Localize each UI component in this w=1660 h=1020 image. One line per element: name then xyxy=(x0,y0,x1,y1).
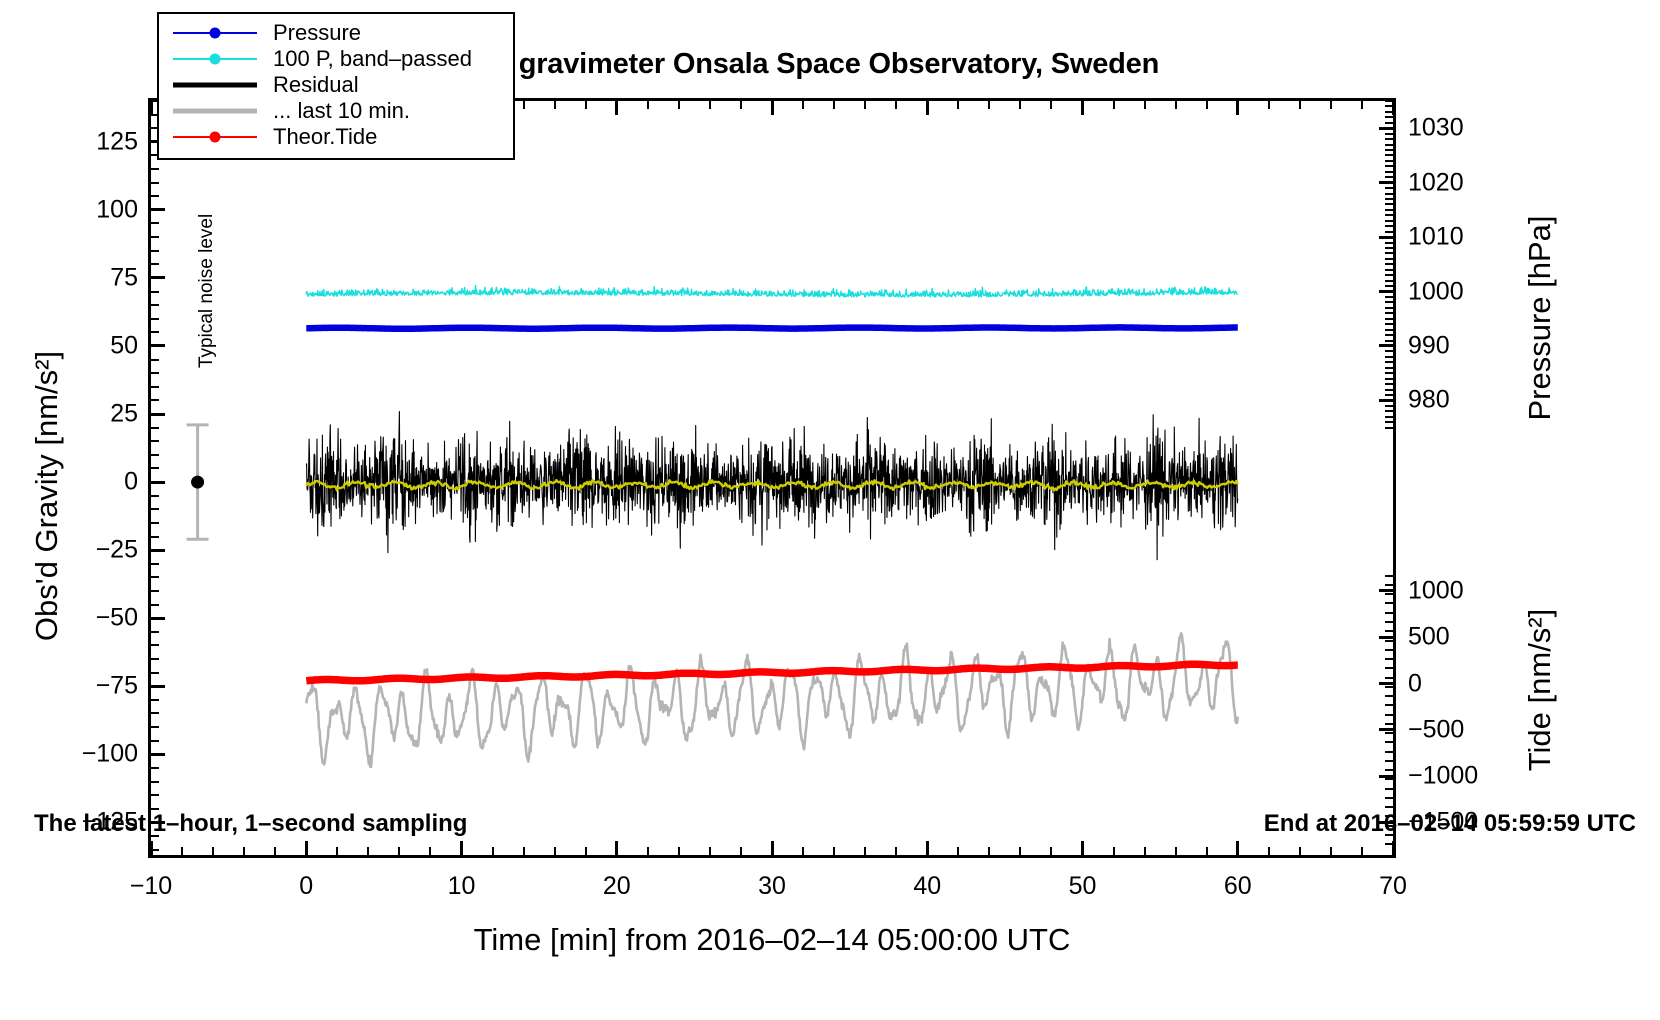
pressure-tick-minor xyxy=(1385,176,1393,178)
y-axis-tick-label: −100 xyxy=(20,740,138,769)
pressure-tick-minor xyxy=(1385,421,1393,423)
legend-swatch-icon xyxy=(167,75,263,95)
pressure-tick-minor xyxy=(1385,329,1393,331)
pressure-axis-tick-label: 980 xyxy=(1408,386,1518,415)
pressure-tick-minor xyxy=(1385,389,1393,391)
legend-item-label: Theor.Tide xyxy=(263,124,377,150)
x-tick-major xyxy=(1081,841,1084,855)
x-tick-minor xyxy=(709,847,711,855)
x-tick-minor-top xyxy=(1299,101,1301,109)
x-tick-major-top xyxy=(150,101,153,115)
legend-swatch-icon xyxy=(167,49,263,69)
x-axis-tick-label: 10 xyxy=(448,872,476,901)
x-tick-major-top xyxy=(1236,101,1239,115)
x-tick-minor-top xyxy=(864,101,866,109)
tide-tick-minor xyxy=(1385,602,1393,604)
pressure-tick-minor xyxy=(1385,198,1393,200)
x-tick-major-top xyxy=(1081,101,1084,115)
pressure-tick-minor xyxy=(1385,405,1393,407)
pressure-tick-minor xyxy=(1385,133,1393,135)
legend-item-3[interactable]: ... last 10 min. xyxy=(167,98,505,124)
pressure-tick-minor xyxy=(1385,307,1393,309)
x-tick-minor xyxy=(895,847,897,855)
x-tick-minor-top xyxy=(1206,101,1208,109)
y-axis-tick-label: 50 xyxy=(20,331,138,360)
x-tick-major xyxy=(150,841,153,855)
y-tick-minor xyxy=(151,495,159,497)
y-tick-minor xyxy=(151,250,159,252)
tide-tick-major xyxy=(1379,636,1393,639)
y-tick-minor xyxy=(151,631,159,633)
x-axis-tick-label: 20 xyxy=(603,872,631,901)
x-tick-minor xyxy=(1144,847,1146,855)
y-axis-tick-label: −75 xyxy=(20,672,138,701)
y-tick-major xyxy=(151,344,165,347)
y-axis-tick-label: 0 xyxy=(20,468,138,497)
pressure-axis-tick-label: 1030 xyxy=(1408,114,1518,143)
pressure-tick-minor xyxy=(1385,280,1393,282)
x-tick-major-top xyxy=(771,101,774,115)
tide-tick-minor xyxy=(1385,825,1393,827)
x-tick-minor xyxy=(1206,847,1208,855)
y-tick-minor xyxy=(151,658,159,660)
x-tick-minor-top xyxy=(585,101,587,109)
x-tick-major xyxy=(1236,841,1239,855)
x-tick-minor xyxy=(398,847,400,855)
y-tick-minor xyxy=(151,222,159,224)
x-tick-minor xyxy=(740,847,742,855)
tide-tick-major xyxy=(1379,821,1393,824)
tide-tick-minor xyxy=(1385,677,1393,679)
pressure-tick-minor xyxy=(1385,100,1393,102)
y-tick-minor xyxy=(151,359,159,361)
pressure-tick-minor xyxy=(1385,193,1393,195)
pressure-tick-minor xyxy=(1385,252,1393,254)
pressure-tick-minor xyxy=(1385,372,1393,374)
x-tick-minor xyxy=(802,847,804,855)
x-tick-minor xyxy=(492,847,494,855)
noise-level-errorbar xyxy=(187,425,209,539)
y-tick-major xyxy=(151,276,165,279)
pressure-tick-minor xyxy=(1385,149,1393,151)
y-tick-minor xyxy=(151,536,159,538)
pressure-tick-minor xyxy=(1385,263,1393,265)
pressure-tick-minor xyxy=(1385,171,1393,173)
y-tick-minor xyxy=(151,467,159,469)
x-tick-minor xyxy=(1050,847,1052,855)
tide-tick-minor xyxy=(1385,612,1393,614)
tide-tick-minor xyxy=(1385,704,1393,706)
x-tick-minor-top xyxy=(802,101,804,109)
tide-tick-minor xyxy=(1385,714,1393,716)
y-tick-minor xyxy=(151,331,159,333)
y-tick-minor xyxy=(151,563,159,565)
pressure-tick-major xyxy=(1379,236,1393,239)
x-axis-tick-label: 0 xyxy=(299,872,313,901)
pressure-tick-major xyxy=(1379,399,1393,402)
tide-tick-minor xyxy=(1385,640,1393,642)
y-tick-major xyxy=(151,549,165,552)
x-axis-tick-label: 60 xyxy=(1224,872,1252,901)
tide-tick-minor xyxy=(1385,649,1393,651)
pressure-tick-minor xyxy=(1385,231,1393,233)
x-tick-minor-top xyxy=(1050,101,1052,109)
tide-tick-minor xyxy=(1385,741,1393,743)
legend-item-label: 100 P, band–passed xyxy=(263,46,472,72)
tide-tick-minor xyxy=(1385,593,1393,595)
pressure-tick-minor xyxy=(1385,394,1393,396)
legend-swatch-icon xyxy=(167,127,263,147)
y-tick-minor xyxy=(151,372,159,374)
legend-item-0[interactable]: Pressure xyxy=(167,20,505,46)
pressure-tick-minor xyxy=(1385,187,1393,189)
x-tick-minor-top xyxy=(523,101,525,109)
tide-tick-minor xyxy=(1385,695,1393,697)
pressure-tick-major xyxy=(1379,127,1393,130)
x-tick-minor xyxy=(554,847,556,855)
pressure-tick-minor xyxy=(1385,410,1393,412)
pressure-tick-minor xyxy=(1385,285,1393,287)
tide-axis-tick-label: −1000 xyxy=(1408,762,1548,791)
tide-tick-major xyxy=(1379,682,1393,685)
x-tick-minor-top xyxy=(895,101,897,109)
y-tick-minor xyxy=(151,644,159,646)
pressure-tick-minor xyxy=(1385,361,1393,363)
y-tick-minor xyxy=(151,712,159,714)
x-tick-minor xyxy=(1330,847,1332,855)
x-tick-minor-top xyxy=(957,101,959,109)
x-tick-minor-top xyxy=(647,101,649,109)
tide-axis-tick-label: −1500 xyxy=(1408,808,1548,837)
tide-tick-major xyxy=(1379,589,1393,592)
y-axis-title-pressure: Pressure [hPa] xyxy=(1522,153,1558,483)
pressure-tick-minor xyxy=(1385,203,1393,205)
y-tick-minor xyxy=(151,672,159,674)
y-tick-major xyxy=(151,821,165,824)
pressure-tick-major xyxy=(1379,344,1393,347)
x-tick-minor xyxy=(1113,847,1115,855)
tide-tick-minor xyxy=(1385,621,1393,623)
y-tick-minor xyxy=(151,195,159,197)
x-tick-major xyxy=(460,841,463,855)
x-tick-minor xyxy=(523,847,525,855)
pressure-tick-minor xyxy=(1385,269,1393,271)
x-tick-minor xyxy=(957,847,959,855)
pressure-tick-minor xyxy=(1385,111,1393,113)
y-tick-major xyxy=(151,685,165,688)
y-tick-minor xyxy=(151,740,159,742)
x-tick-minor-top xyxy=(678,101,680,109)
legend: Pressure100 P, band–passedResidual... la… xyxy=(157,12,515,160)
legend-item-1[interactable]: 100 P, band–passed xyxy=(167,46,505,72)
pressure-tick-minor xyxy=(1385,312,1393,314)
x-tick-minor xyxy=(274,847,276,855)
pressure-axis-tick-label: 1010 xyxy=(1408,223,1518,252)
y-tick-minor xyxy=(151,726,159,728)
pressure-tick-minor xyxy=(1385,160,1393,162)
y-axis-tick-label: 25 xyxy=(20,400,138,429)
x-tick-minor xyxy=(1019,847,1021,855)
y-tick-minor xyxy=(151,168,159,170)
noise-level-dot-icon xyxy=(191,476,204,489)
pressure-tick-minor xyxy=(1385,116,1393,118)
tide-tick-minor xyxy=(1385,843,1393,845)
x-tick-minor xyxy=(1361,847,1363,855)
tide-tick-minor xyxy=(1385,788,1393,790)
pressure-tick-minor xyxy=(1385,154,1393,156)
x-tick-minor xyxy=(1299,847,1301,855)
x-tick-minor xyxy=(181,847,183,855)
y-tick-minor xyxy=(151,767,159,769)
noise-level-label: Typical noise level xyxy=(196,138,218,368)
y-tick-minor xyxy=(151,508,159,510)
y-tick-major xyxy=(151,413,165,416)
x-tick-minor xyxy=(678,847,680,855)
y-tick-major xyxy=(151,481,165,484)
pressure-axis-tick-label: 1000 xyxy=(1408,277,1518,306)
pressure-tick-minor xyxy=(1385,242,1393,244)
pressure-tick-minor xyxy=(1385,122,1393,124)
tide-tick-minor xyxy=(1385,575,1393,577)
legend-item-4[interactable]: Theor.Tide xyxy=(167,124,505,150)
y-tick-major xyxy=(151,617,165,620)
y-tick-major xyxy=(151,753,165,756)
tide-axis-tick-label: 1000 xyxy=(1408,576,1548,605)
x-axis-tick-label: −10 xyxy=(130,872,172,901)
tide-tick-major xyxy=(1379,775,1393,778)
pressure-tick-major xyxy=(1379,290,1393,293)
y-tick-minor xyxy=(151,590,159,592)
y-tick-minor xyxy=(151,399,159,401)
x-tick-major-top xyxy=(615,101,618,115)
tide-tick-minor xyxy=(1385,630,1393,632)
legend-marker-dot-icon xyxy=(210,54,221,65)
legend-item-label: Residual xyxy=(263,72,359,98)
x-tick-minor xyxy=(336,847,338,855)
x-axis-title: Time [min] from 2016–02–14 05:00:00 UTC xyxy=(148,922,1396,958)
pressure-axis-tick-label: 990 xyxy=(1408,331,1518,360)
y-tick-minor xyxy=(151,318,159,320)
y-tick-minor xyxy=(151,835,159,837)
y-axis-tick-label: 75 xyxy=(20,263,138,292)
y-tick-minor xyxy=(151,808,159,810)
pressure-tick-minor xyxy=(1385,258,1393,260)
x-tick-minor xyxy=(243,847,245,855)
x-tick-minor xyxy=(585,847,587,855)
pressure-tick-minor xyxy=(1385,416,1393,418)
pressure-tick-minor xyxy=(1385,105,1393,107)
legend-swatch-icon xyxy=(167,23,263,43)
tide-tick-minor xyxy=(1385,834,1393,836)
series-theoretical-tide xyxy=(306,664,1238,681)
x-tick-major xyxy=(771,841,774,855)
x-tick-minor-top xyxy=(740,101,742,109)
tide-tick-minor xyxy=(1385,732,1393,734)
x-tick-major xyxy=(305,841,308,855)
y-axis-tick-label: −50 xyxy=(20,604,138,633)
pressure-tick-minor xyxy=(1385,225,1393,227)
y-tick-minor xyxy=(151,576,159,578)
legend-item-label: ... last 10 min. xyxy=(263,98,410,124)
pressure-tick-minor xyxy=(1385,334,1393,336)
pressure-tick-minor xyxy=(1385,356,1393,358)
pressure-tick-minor xyxy=(1385,318,1393,320)
plot-clip xyxy=(151,101,1393,855)
x-tick-minor-top xyxy=(1330,101,1332,109)
y-axis-tick-label: 100 xyxy=(20,195,138,224)
tide-tick-major xyxy=(1379,728,1393,731)
y-tick-major xyxy=(151,208,165,211)
pressure-tick-minor xyxy=(1385,209,1393,211)
x-tick-minor-top xyxy=(1019,101,1021,109)
legend-item-2[interactable]: Residual xyxy=(167,72,505,98)
pressure-tick-minor xyxy=(1385,427,1393,429)
tide-tick-minor xyxy=(1385,584,1393,586)
x-tick-minor-top xyxy=(1144,101,1146,109)
x-tick-minor-top xyxy=(1361,101,1363,109)
x-tick-minor xyxy=(1175,847,1177,855)
tide-tick-minor xyxy=(1385,751,1393,753)
x-tick-minor xyxy=(833,847,835,855)
y-tick-minor xyxy=(151,794,159,796)
x-tick-minor xyxy=(988,847,990,855)
series-pressure xyxy=(306,327,1238,328)
x-tick-minor xyxy=(367,847,369,855)
y-axis-tick-label: 125 xyxy=(20,127,138,156)
x-tick-major xyxy=(615,841,618,855)
x-tick-minor-top xyxy=(1268,101,1270,109)
pressure-tick-minor xyxy=(1385,165,1393,167)
tide-axis-tick-label: 500 xyxy=(1408,623,1548,652)
pressure-tick-minor xyxy=(1385,378,1393,380)
pressure-tick-minor xyxy=(1385,214,1393,216)
x-tick-minor-top xyxy=(1113,101,1115,109)
tide-tick-minor xyxy=(1385,723,1393,725)
y-tick-minor xyxy=(151,304,159,306)
y-axis-tick-label: −25 xyxy=(20,536,138,565)
series-canvas xyxy=(151,101,1393,855)
pressure-tick-minor xyxy=(1385,367,1393,369)
tide-axis-tick-label: 0 xyxy=(1408,669,1548,698)
pressure-tick-minor xyxy=(1385,350,1393,352)
legend-swatch-icon xyxy=(167,101,263,121)
x-tick-minor xyxy=(647,847,649,855)
y-tick-minor xyxy=(151,182,159,184)
x-axis-tick-label: 50 xyxy=(1069,872,1097,901)
x-tick-major xyxy=(926,841,929,855)
pressure-tick-minor xyxy=(1385,247,1393,249)
pressure-tick-minor xyxy=(1385,144,1393,146)
x-tick-minor xyxy=(429,847,431,855)
x-tick-minor-top xyxy=(833,101,835,109)
tide-tick-minor xyxy=(1385,667,1393,669)
x-axis-tick-label: 70 xyxy=(1379,872,1407,901)
y-tick-minor xyxy=(151,454,159,456)
y-tick-minor xyxy=(151,236,159,238)
series-band-passed-pressure xyxy=(306,286,1238,298)
tide-axis-tick-label: −500 xyxy=(1408,715,1548,744)
legend-marker-dot-icon xyxy=(210,28,221,39)
y-tick-minor xyxy=(151,427,159,429)
y-tick-minor xyxy=(151,699,159,701)
y-tick-minor xyxy=(151,781,159,783)
x-tick-major-top xyxy=(1392,101,1395,115)
y-tick-minor xyxy=(151,440,159,442)
plot-area xyxy=(148,98,1396,858)
pressure-tick-minor xyxy=(1385,220,1393,222)
pressure-axis-tick-label: 1020 xyxy=(1408,168,1518,197)
x-tick-minor-top xyxy=(709,101,711,109)
y-tick-minor xyxy=(151,263,159,265)
y-tick-minor xyxy=(151,291,159,293)
tide-tick-minor xyxy=(1385,760,1393,762)
tide-tick-minor xyxy=(1385,769,1393,771)
tide-tick-minor xyxy=(1385,797,1393,799)
x-axis-tick-label: 30 xyxy=(758,872,786,901)
x-tick-minor xyxy=(864,847,866,855)
pressure-tick-minor xyxy=(1385,138,1393,140)
x-tick-major-top xyxy=(926,101,929,115)
pressure-tick-minor xyxy=(1385,383,1393,385)
x-tick-minor xyxy=(212,847,214,855)
pressure-tick-minor xyxy=(1385,274,1393,276)
pressure-tick-minor xyxy=(1385,301,1393,303)
tide-tick-minor xyxy=(1385,778,1393,780)
pressure-tick-minor xyxy=(1385,340,1393,342)
tide-tick-minor xyxy=(1385,815,1393,817)
tide-tick-minor xyxy=(1385,658,1393,660)
y-tick-minor xyxy=(151,386,159,388)
y-tick-minor xyxy=(151,522,159,524)
x-axis-tick-label: 40 xyxy=(913,872,941,901)
y-axis-tick-label: −125 xyxy=(20,808,138,837)
pressure-tick-major xyxy=(1379,181,1393,184)
legend-item-label: Pressure xyxy=(263,20,361,46)
tide-tick-minor xyxy=(1385,806,1393,808)
series-last-10-min xyxy=(306,633,1238,767)
pressure-tick-minor xyxy=(1385,323,1393,325)
pressure-tick-minor xyxy=(1385,296,1393,298)
x-tick-minor-top xyxy=(988,101,990,109)
x-tick-minor-top xyxy=(554,101,556,109)
x-tick-minor-top xyxy=(1175,101,1177,109)
tide-tick-minor xyxy=(1385,686,1393,688)
legend-marker-dot-icon xyxy=(210,132,221,143)
y-tick-minor xyxy=(151,604,159,606)
x-tick-minor xyxy=(1268,847,1270,855)
